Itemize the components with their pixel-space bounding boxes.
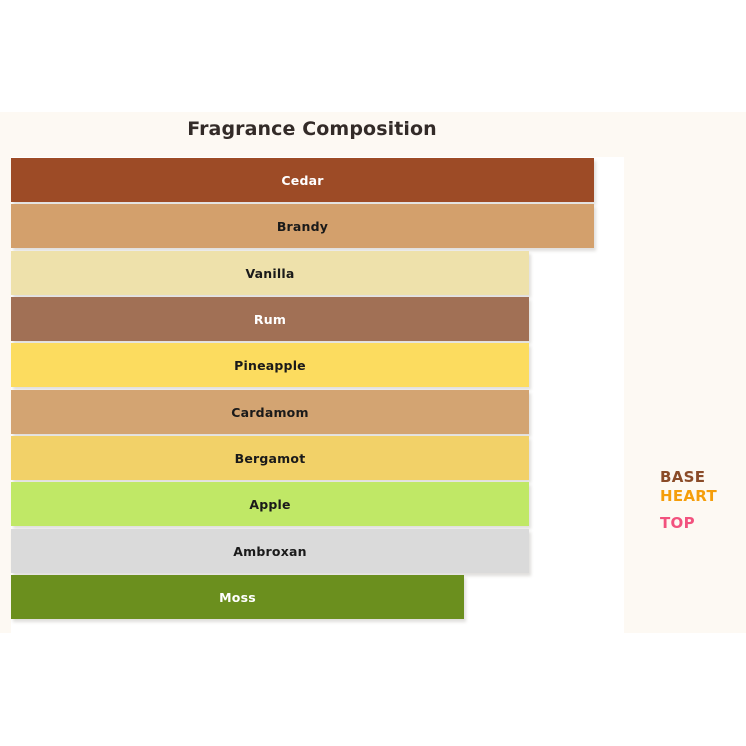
bar-moss[interactable]: Moss <box>11 575 464 619</box>
legend-item-top[interactable]: TOP <box>660 516 695 531</box>
legend: BASEHEARTTOP <box>660 352 742 432</box>
bar-apple[interactable]: Apple <box>11 482 529 526</box>
bar-label: Cedar <box>281 173 323 188</box>
bar-label: Apple <box>249 497 290 512</box>
bar-label: Brandy <box>277 219 328 234</box>
bar-label: Bergamot <box>235 451 306 466</box>
bar-label: Pineapple <box>234 358 306 373</box>
bar-brandy[interactable]: Brandy <box>11 204 594 248</box>
chart-canvas: Fragrance Composition CedarBrandyVanilla… <box>0 0 746 746</box>
bar-cedar[interactable]: Cedar <box>11 158 594 202</box>
legend-item-heart[interactable]: HEART <box>660 489 717 504</box>
bar-label: Cardamom <box>231 405 308 420</box>
figure-background: Fragrance Composition CedarBrandyVanilla… <box>0 112 746 633</box>
bar-label: Vanilla <box>245 266 294 281</box>
bar-label: Ambroxan <box>233 544 306 559</box>
bar-label: Rum <box>254 312 286 327</box>
bar-rum[interactable]: Rum <box>11 297 529 341</box>
page-title: Fragrance Composition <box>0 118 624 140</box>
bar-pineapple[interactable]: Pineapple <box>11 343 529 387</box>
legend-item-base[interactable]: BASE <box>660 470 705 485</box>
bar-vanilla[interactable]: Vanilla <box>11 251 529 295</box>
bar-series: CedarBrandyVanillaRumPineappleCardamomBe… <box>11 158 624 628</box>
bar-label: Moss <box>219 590 256 605</box>
bar-bergamot[interactable]: Bergamot <box>11 436 529 480</box>
bar-ambroxan[interactable]: Ambroxan <box>11 529 529 573</box>
bar-cardamom[interactable]: Cardamom <box>11 390 529 434</box>
